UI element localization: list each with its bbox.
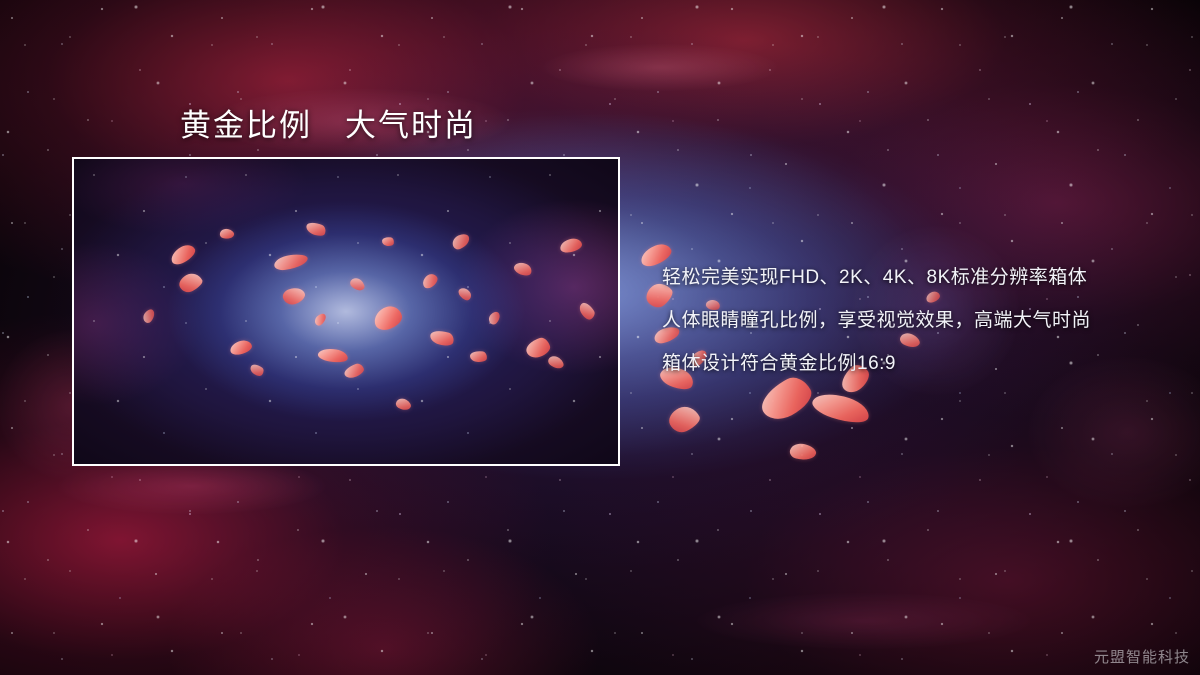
- framed-image-stars: [74, 159, 618, 464]
- page-title: 黄金比例 大气时尚: [180, 100, 477, 145]
- framed-nebula-image: [72, 157, 620, 466]
- body-line-2: 人体眼睛瞳孔比例，享受视觉效果，高端大气时尚: [662, 299, 1162, 342]
- body-line-3: 箱体设计符合黄金比例16:9: [662, 342, 1162, 385]
- flower-petal: [665, 402, 702, 437]
- flower-petal: [788, 441, 817, 463]
- flower-petal: [810, 388, 873, 429]
- body-text-block: 轻松完美实现FHD、2K、4K、8K标准分辨率箱体 人体眼睛瞳孔比例，享受视觉效…: [662, 256, 1162, 385]
- body-line-1: 轻松完美实现FHD、2K、4K、8K标准分辨率箱体: [662, 256, 1162, 299]
- presentation-slide: 黄金比例 大气时尚 轻松完美实现FHD、2K、4K、8K标准分辨率箱体 人体眼睛…: [0, 0, 1200, 675]
- watermark-label: 元盟智能科技: [1094, 646, 1190, 667]
